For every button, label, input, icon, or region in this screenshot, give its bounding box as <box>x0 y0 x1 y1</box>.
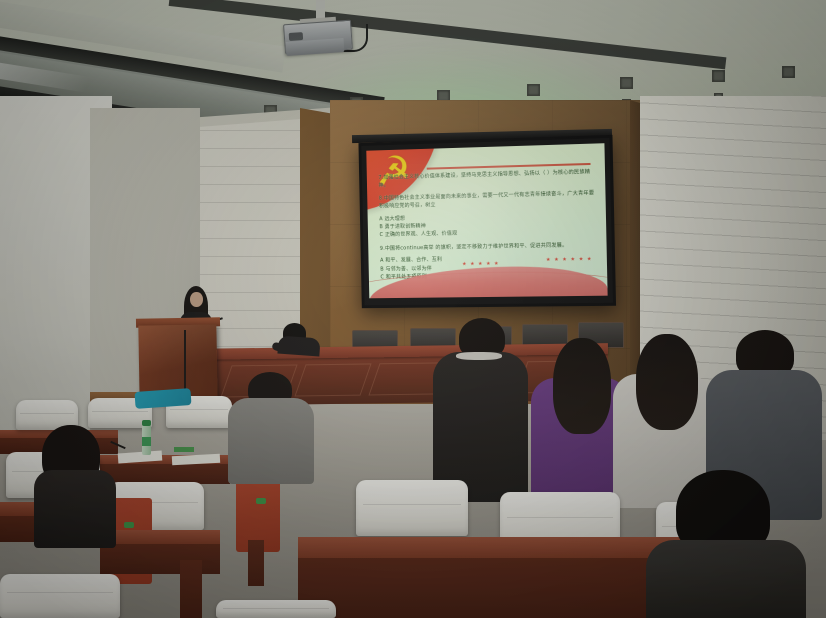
seated-attendee-left-body <box>34 470 116 548</box>
standing-attendee-1-collar <box>456 352 502 360</box>
water-bottle-cap <box>142 420 151 426</box>
recessed-ceiling-fixture <box>527 84 540 96</box>
slide-content: ☭ 7.加强社会主义核心价值体系建设，坚持马克思主义指导思想、弘扬以（ ）为核心… <box>366 143 607 298</box>
desk-front <box>100 464 230 484</box>
slide-question-8: 8.中国特色社会主义事业是面向未来的事业，需要一代又一代有志青年接续奋斗，广大青… <box>379 189 598 211</box>
seat-headrest-cover <box>356 480 468 536</box>
seat-pedestal <box>180 560 202 618</box>
standing-attendee-2-hair <box>553 338 611 434</box>
recessed-ceiling-fixture <box>620 77 633 89</box>
slide-question-9: 9.中国将continue高举 的旗帜，坚定不移致力于维护世界和平、促进共同发展… <box>380 241 599 253</box>
seat-headrest-cover <box>0 574 120 618</box>
standing-attendee-3-hair <box>636 334 698 430</box>
lecture-hall-photo: ☭ 7.加强社会主义核心价值体系建设，坚持马克思主义指导思想、弘扬以（ ）为核心… <box>0 0 826 618</box>
seat-pedestal <box>248 540 264 586</box>
slide-stars-right: ★ ★ ★ ★ ★ ★ <box>546 256 593 263</box>
projector-lens <box>289 32 304 41</box>
desk-top <box>100 530 220 544</box>
head-table-panel <box>294 363 371 396</box>
desk-front <box>100 544 220 574</box>
front-desk-top <box>298 537 700 559</box>
seat-number-label <box>256 498 266 504</box>
projection-screen: ☭ 7.加强社会主义核心价值体系建设，坚持马克思主义指导思想、弘扬以（ ）为核心… <box>358 135 616 308</box>
water-bottle-label <box>142 437 151 446</box>
recessed-ceiling-fixture <box>712 70 725 82</box>
seat-number-label <box>124 522 134 528</box>
seat-headrest-cover <box>216 600 336 618</box>
recessed-ceiling-fixture <box>782 66 795 78</box>
seated-attendee-gray-body <box>228 398 314 484</box>
front-desk-front <box>298 558 700 618</box>
notebook <box>174 447 194 452</box>
presenter-face <box>190 292 203 307</box>
seated-attendee-foreground-body <box>646 540 806 618</box>
